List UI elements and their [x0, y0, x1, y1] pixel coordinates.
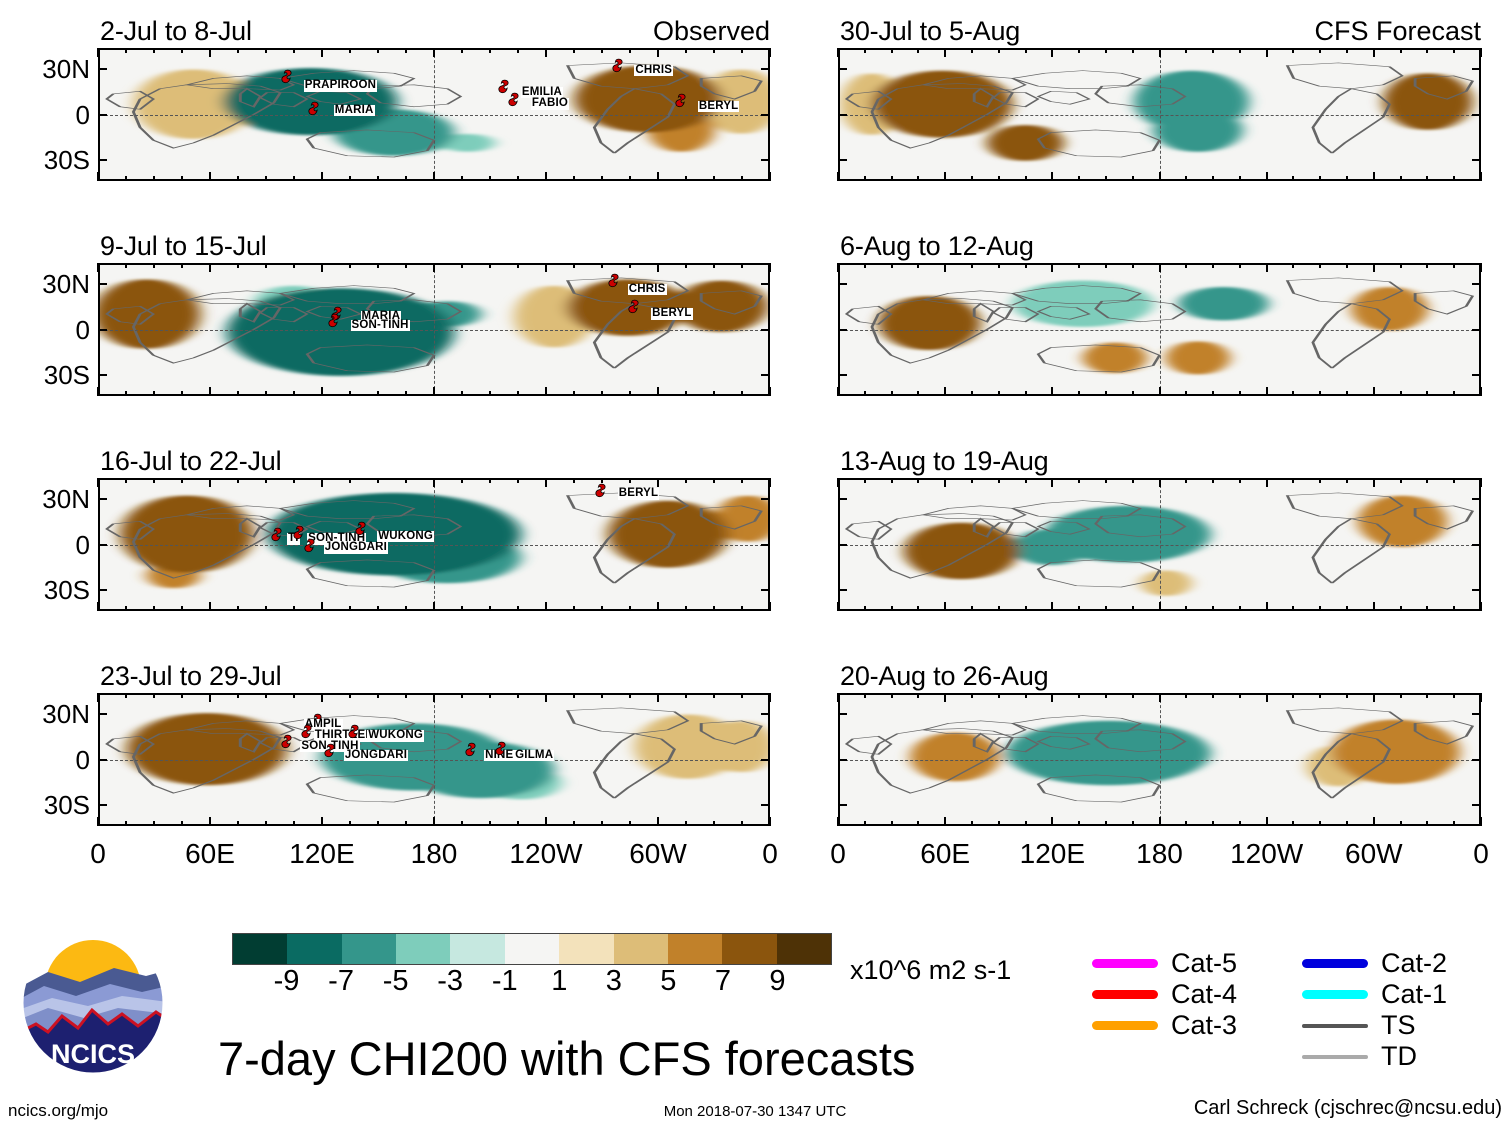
y-tick-label: 0	[76, 532, 90, 558]
axis-ticks-fcst-3	[838, 478, 1481, 611]
y-tick-label: 30N	[42, 271, 90, 297]
x-tick-label: 60E	[185, 840, 235, 868]
colorbar-segment	[287, 934, 341, 964]
colorbar-segment	[614, 934, 668, 964]
colorbar-segment	[777, 934, 831, 964]
axis-ticks-obs-3	[98, 478, 770, 611]
footer-website[interactable]: ncics.org/mjo	[8, 1102, 108, 1119]
axis-ticks-obs-2	[98, 263, 770, 396]
colorbar-tick-label: 1	[551, 967, 567, 996]
y-axis-labels-obs-2: 30N030S	[6, 263, 90, 396]
x-tick-label: 0	[830, 840, 846, 868]
legend-item-cat-2[interactable]: Cat-2	[1302, 948, 1447, 979]
x-tick-label: 120E	[1020, 840, 1085, 868]
colorbar-segment	[559, 934, 613, 964]
colorbar-segment	[505, 934, 559, 964]
colorbar-tick-label: -3	[437, 967, 463, 996]
x-tick-label: 0	[762, 840, 778, 868]
legend-label: Cat-2	[1381, 950, 1447, 977]
legend-label: Cat-4	[1171, 981, 1237, 1008]
x-axis-labels-left: 060E120E180120W60W0	[98, 840, 770, 874]
axis-ticks-fcst-2	[838, 263, 1481, 396]
axis-ticks-obs-1	[98, 48, 770, 181]
panel-title-fcst-1: 30-Jul to 5-Aug	[840, 18, 1020, 45]
ncics-logo: NCICS	[18, 928, 168, 1078]
colorbar-tick-label: -7	[328, 967, 354, 996]
y-tick-label: 30S	[44, 577, 90, 603]
panel-title-fcst-3: 13-Aug to 19-Aug	[840, 448, 1048, 475]
column-header-observed: Observed	[653, 18, 770, 45]
y-tick-label: 30S	[44, 362, 90, 388]
y-tick-label: 30S	[44, 147, 90, 173]
legend-swatch-cat-2	[1302, 959, 1368, 968]
legend-label: Cat-1	[1381, 981, 1447, 1008]
panel-title-fcst-4: 20-Aug to 26-Aug	[840, 663, 1048, 690]
x-tick-label: 60W	[1345, 840, 1403, 868]
storm-legend-column-1: Cat-5Cat-4Cat-3	[1092, 948, 1237, 1041]
legend-item-cat-5[interactable]: Cat-5	[1092, 948, 1237, 979]
legend-item-cat-4[interactable]: Cat-4	[1092, 979, 1237, 1010]
y-tick-label: 0	[76, 102, 90, 128]
footer-author[interactable]: Carl Schreck (cjschrec@ncsu.edu)	[1194, 1098, 1502, 1118]
x-tick-label: 0	[1473, 840, 1489, 868]
legend-item-cat-1[interactable]: Cat-1	[1302, 979, 1447, 1010]
page-title: 7-day CHI200 with CFS forecasts	[218, 1035, 915, 1082]
legend-item-ts[interactable]: TS	[1302, 1010, 1447, 1041]
colorbar-tick-label: 5	[660, 967, 676, 996]
legend-label: TS	[1381, 1012, 1416, 1039]
legend-swatch-cat-4	[1092, 990, 1158, 999]
axis-ticks-fcst-1	[838, 48, 1481, 181]
legend-swatch-cat-1	[1302, 990, 1368, 999]
colorbar-segment	[450, 934, 504, 964]
panel-title-obs-1: 2-Jul to 8-Jul	[100, 18, 252, 45]
colorbar: -9-7-5-3-113579	[232, 933, 832, 999]
colorbar-segment	[342, 934, 396, 964]
column-header-forecast: CFS Forecast	[1314, 18, 1481, 45]
colorbar-tick-label: 9	[769, 967, 785, 996]
legend-label: Cat-3	[1171, 1012, 1237, 1039]
legend-swatch-cat-5	[1092, 959, 1158, 968]
axis-ticks-fcst-4	[838, 693, 1481, 826]
y-tick-label: 0	[76, 317, 90, 343]
y-axis-labels-obs-4: 30N030S	[6, 693, 90, 826]
colorbar-swatches	[232, 933, 832, 965]
x-tick-label: 60E	[920, 840, 970, 868]
x-tick-label: 120W	[509, 840, 582, 868]
colorbar-segment	[668, 934, 722, 964]
x-tick-label: 180	[1136, 840, 1183, 868]
legend-label: Cat-5	[1171, 950, 1237, 977]
colorbar-tick-labels: -9-7-5-3-113579	[232, 965, 832, 999]
panel-title-fcst-2: 6-Aug to 12-Aug	[840, 233, 1034, 260]
colorbar-units-label: x10^6 m2 s-1	[850, 957, 1011, 984]
x-tick-label: 60W	[629, 840, 687, 868]
colorbar-tick-label: 7	[715, 967, 731, 996]
y-axis-labels-obs-3: 30N030S	[6, 478, 90, 611]
storm-legend-column-2: Cat-2Cat-1TSTD	[1302, 948, 1447, 1072]
y-tick-label: 0	[76, 747, 90, 773]
legend-swatch-td	[1302, 1055, 1368, 1059]
y-axis-labels-obs-1: 30N030S	[6, 48, 90, 181]
panel-title-obs-4: 23-Jul to 29-Jul	[100, 663, 281, 690]
colorbar-segment	[396, 934, 450, 964]
y-tick-label: 30N	[42, 486, 90, 512]
panel-title-obs-2: 9-Jul to 15-Jul	[100, 233, 267, 260]
legend-item-cat-3[interactable]: Cat-3	[1092, 1010, 1237, 1041]
colorbar-tick-label: -1	[492, 967, 518, 996]
colorbar-tick-label: -9	[274, 967, 300, 996]
legend-item-td[interactable]: TD	[1302, 1041, 1447, 1072]
y-tick-label: 30S	[44, 792, 90, 818]
y-tick-label: 30N	[42, 701, 90, 727]
x-tick-label: 180	[411, 840, 458, 868]
x-tick-label: 0	[90, 840, 106, 868]
footer-timestamp: Mon 2018-07-30 1347 UTC	[664, 1104, 847, 1119]
legend-swatch-ts	[1302, 1024, 1368, 1028]
x-tick-label: 120E	[289, 840, 354, 868]
svg-text:NCICS: NCICS	[51, 1039, 135, 1069]
legend-swatch-cat-3	[1092, 1021, 1158, 1030]
x-tick-label: 120W	[1230, 840, 1303, 868]
axis-ticks-obs-4	[98, 693, 770, 826]
colorbar-tick-label: 3	[606, 967, 622, 996]
y-tick-label: 30N	[42, 56, 90, 82]
colorbar-tick-label: -5	[383, 967, 409, 996]
legend-label: TD	[1381, 1043, 1417, 1070]
colorbar-segment	[722, 934, 776, 964]
panel-title-obs-3: 16-Jul to 22-Jul	[100, 448, 281, 475]
x-axis-labels-right: 060E120E180120W60W0	[838, 840, 1481, 874]
colorbar-segment	[233, 934, 287, 964]
